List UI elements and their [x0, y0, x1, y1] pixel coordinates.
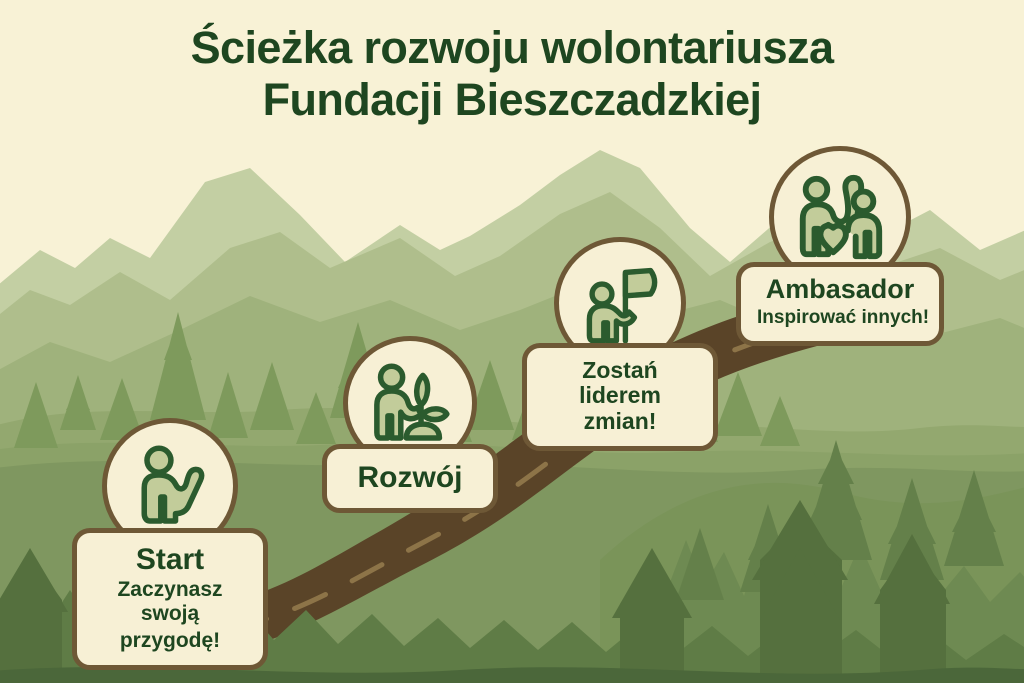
step-rozwoj-title: Rozwój	[343, 461, 477, 494]
person-waving-icon	[124, 440, 216, 532]
step-lider-card: Zostań liderem zmian!	[522, 343, 718, 451]
two-people-with-heart-icon	[791, 168, 889, 266]
person-with-flag-icon	[575, 258, 665, 348]
step-rozwoj-card: Rozwój	[322, 444, 498, 513]
step-lider[interactable]: Zostań liderem zmian!	[522, 237, 718, 451]
step-ambasador[interactable]: Ambasador Inspirować innych!	[736, 146, 944, 346]
step-ambasador-title: Ambasador	[757, 275, 923, 305]
step-start-title: Start	[93, 543, 247, 576]
step-start-card: Start Zaczynasz swoją przygodę!	[72, 528, 268, 670]
step-ambasador-card: Ambasador Inspirować innych!	[736, 262, 944, 346]
step-rozwoj[interactable]: Rozwój	[322, 336, 498, 513]
step-start[interactable]: Start Zaczynasz swoją przygodę!	[72, 418, 268, 670]
step-lider-title-line1: Zostań liderem	[543, 358, 697, 409]
infographic-poster: Ścieżka rozwoju wolontariusza Fundacji B…	[0, 0, 1024, 683]
step-lider-title-line2: zmian!	[543, 409, 697, 434]
step-start-subtitle-line2: przygodę!	[93, 629, 247, 653]
step-ambasador-subtitle: Inspirować innych!	[757, 307, 923, 329]
step-start-subtitle-line1: Zaczynasz swoją	[93, 578, 247, 627]
person-with-seedling-icon	[364, 357, 456, 449]
